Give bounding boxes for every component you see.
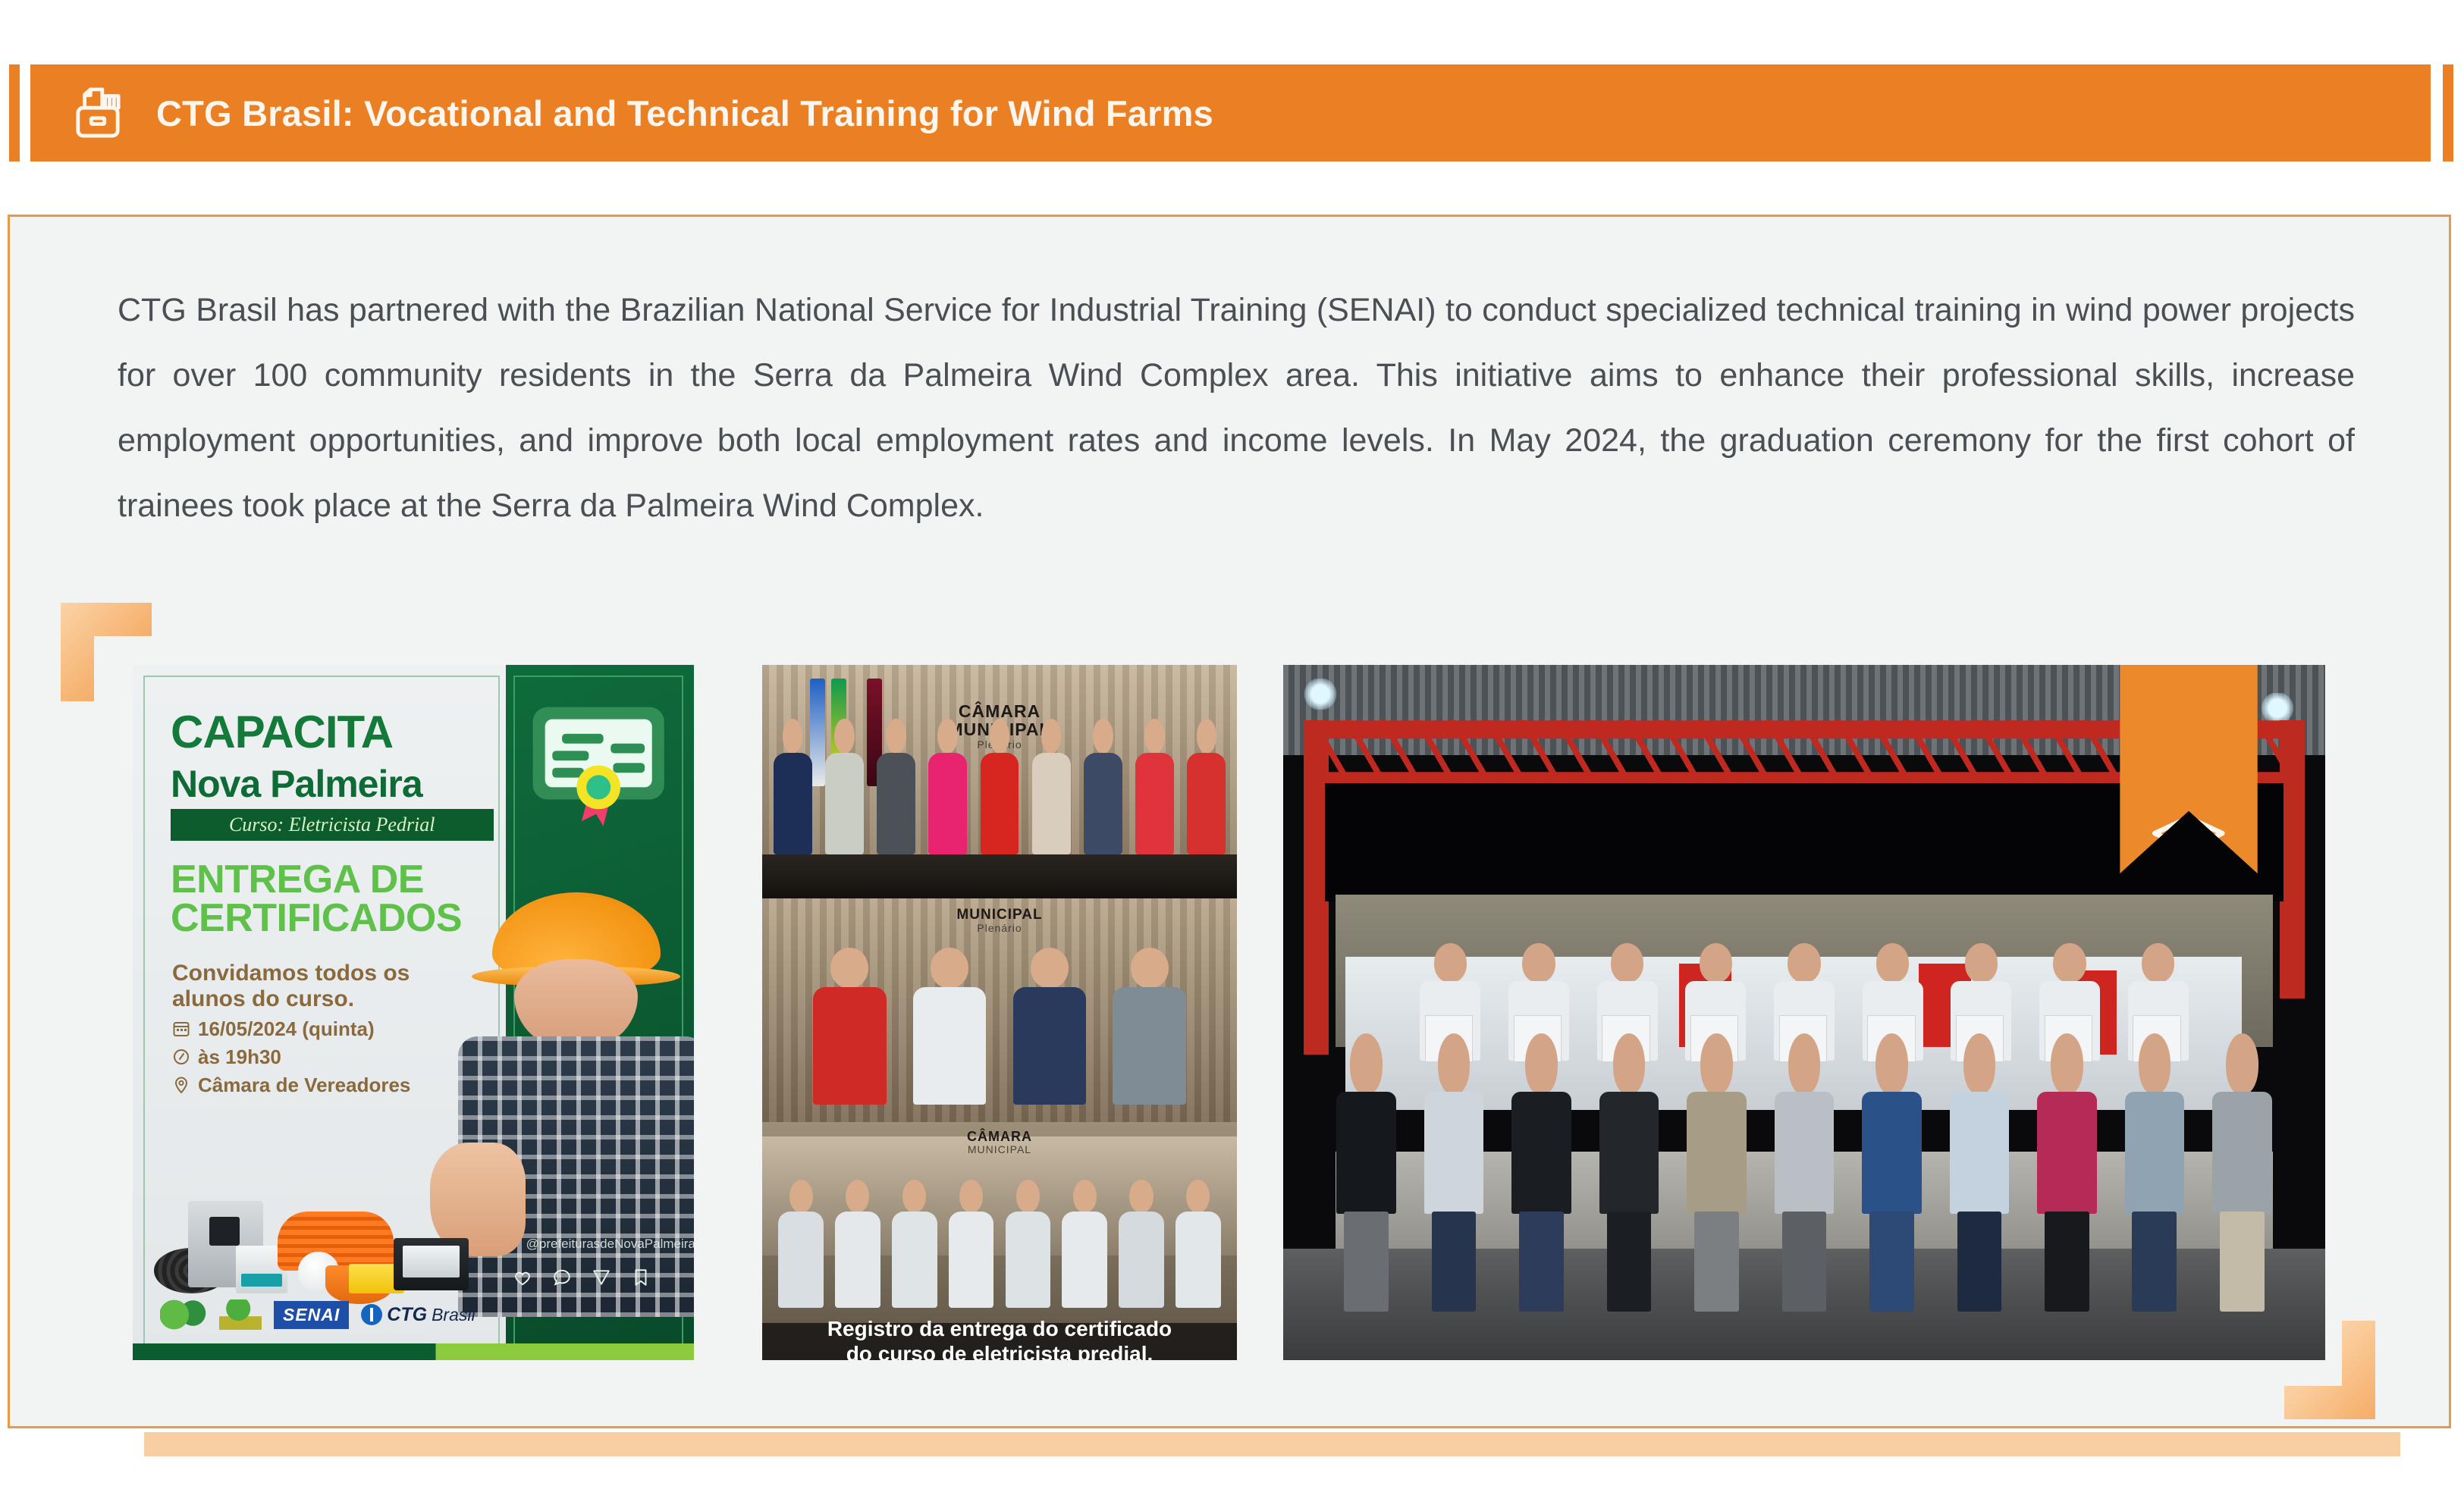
bottom-accent-bar — [144, 1432, 2400, 1456]
body-paragraph: CTG Brasil has partnered with the Brazil… — [118, 277, 2355, 538]
header-left-accent-bar — [9, 64, 20, 161]
content-panel: CTG Brasil has partnered with the Brazil… — [8, 215, 2451, 1428]
page-header: CTG Brasil: Vocational and Technical Tra… — [0, 64, 2464, 161]
archive-box-icon — [74, 87, 121, 139]
corner-bracket-top-left-icon — [61, 603, 152, 701]
slide-page: CTG Brasil: Vocational and Technical Tra… — [0, 0, 2464, 1511]
corner-bracket-bottom-right-icon — [2284, 1321, 2375, 1419]
header-bar: CTG Brasil: Vocational and Technical Tra… — [30, 64, 2431, 161]
header-right-accent-bar — [2443, 64, 2453, 161]
page-title: CTG Brasil: Vocational and Technical Tra… — [156, 96, 1213, 131]
